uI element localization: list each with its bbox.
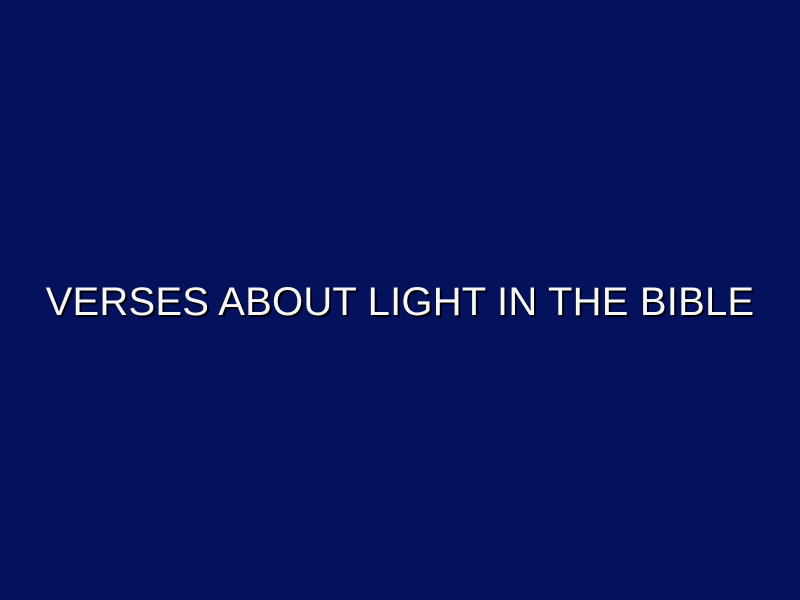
page-title: VERSES ABOUT LIGHT IN THE BIBLE <box>0 282 800 322</box>
title-card: VERSES ABOUT LIGHT IN THE BIBLE <box>0 0 800 600</box>
